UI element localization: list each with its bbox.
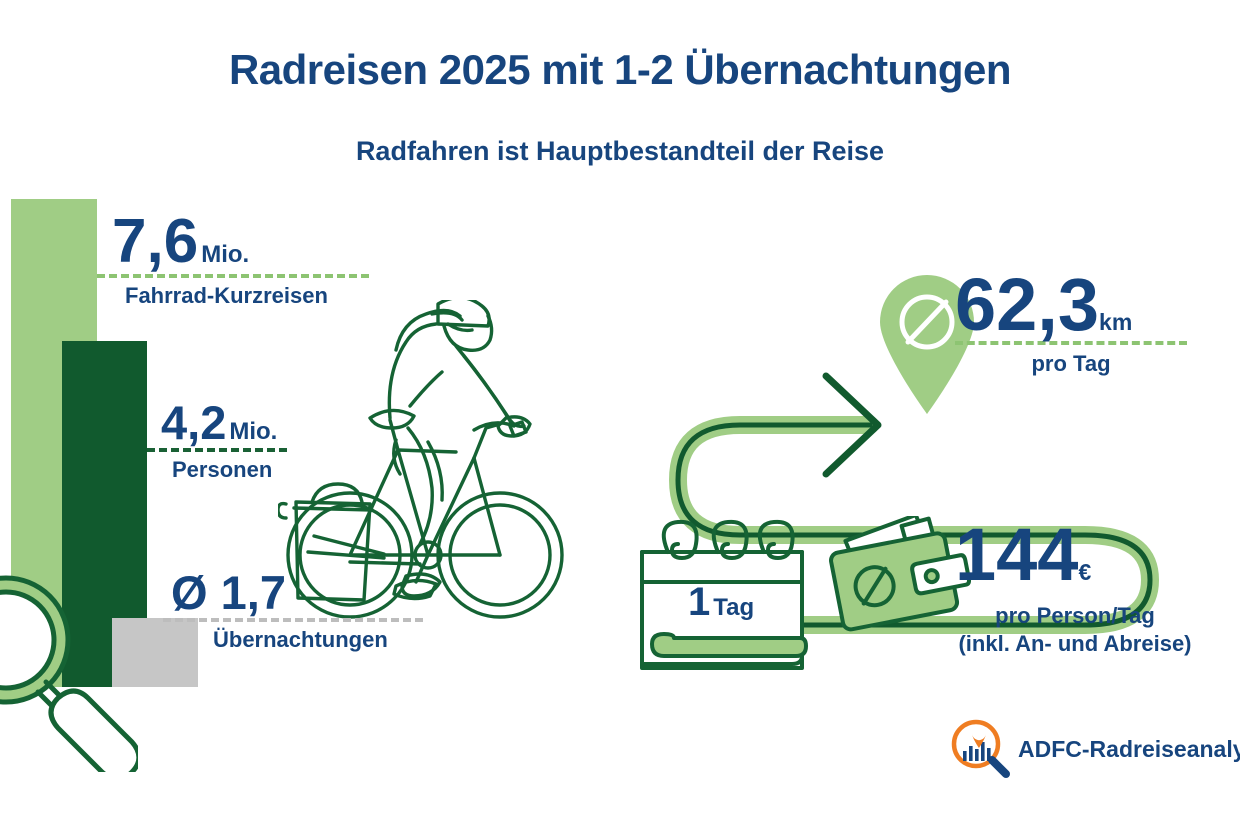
value-uebernachtungen: Ø 1,7 bbox=[171, 566, 286, 619]
logo-text: ADFC-Radreiseanalyse bbox=[1018, 736, 1240, 763]
label-distance: pro Tag bbox=[955, 351, 1187, 377]
adfc-logo[interactable]: ADFC-Radreiseanalyse bbox=[950, 718, 1240, 780]
label-fahrrad-kurzreisen: Fahrrad-Kurzreisen bbox=[97, 283, 369, 309]
unit-distance: km bbox=[1099, 309, 1132, 335]
callout-distance: 62,3km pro Tag bbox=[955, 272, 1187, 377]
label-spend-note: (inkl. An- und Abreise) bbox=[955, 631, 1195, 657]
label-spend: pro Person/Tag bbox=[955, 603, 1195, 629]
calendar-day-value: 1Tag bbox=[688, 580, 754, 625]
label-personen: Personen bbox=[147, 457, 287, 483]
value-spend: 144 bbox=[955, 513, 1078, 596]
callout-spend: 144€ pro Person/Tag (inkl. An- und Abrei… bbox=[955, 522, 1195, 657]
unit-fahrrad-kurzreisen: Mio. bbox=[201, 241, 249, 268]
value-personen: 4,2 bbox=[161, 396, 226, 449]
wallet-icon bbox=[816, 516, 976, 646]
value-duration: 1 bbox=[688, 580, 710, 624]
unit-personen: Mio. bbox=[229, 418, 277, 445]
unit-spend: € bbox=[1078, 559, 1091, 585]
callout-fahrrad-kurzreisen: 7,6Mio. Fahrrad-Kurzreisen bbox=[97, 213, 369, 309]
callout-personen: 4,2Mio. Personen bbox=[147, 401, 287, 483]
magnifier-icon-large bbox=[0, 572, 138, 772]
value-fahrrad-kurzreisen: 7,6 bbox=[112, 207, 198, 276]
infographic-canvas: Radreisen 2025 mit 1-2 Übernachtungen Ra… bbox=[0, 0, 1240, 827]
page-subtitle: Radfahren ist Hauptbestandteil der Reise bbox=[0, 136, 1240, 167]
callout-uebernachtungen: Ø 1,7 Übernachtungen bbox=[163, 571, 423, 653]
label-uebernachtungen: Übernachtungen bbox=[163, 627, 423, 653]
unit-duration: Tag bbox=[713, 594, 754, 621]
page-title: Radreisen 2025 mit 1-2 Übernachtungen bbox=[0, 46, 1240, 94]
magnifier-chart-icon bbox=[950, 718, 1012, 780]
value-distance: 62,3 bbox=[955, 263, 1099, 346]
